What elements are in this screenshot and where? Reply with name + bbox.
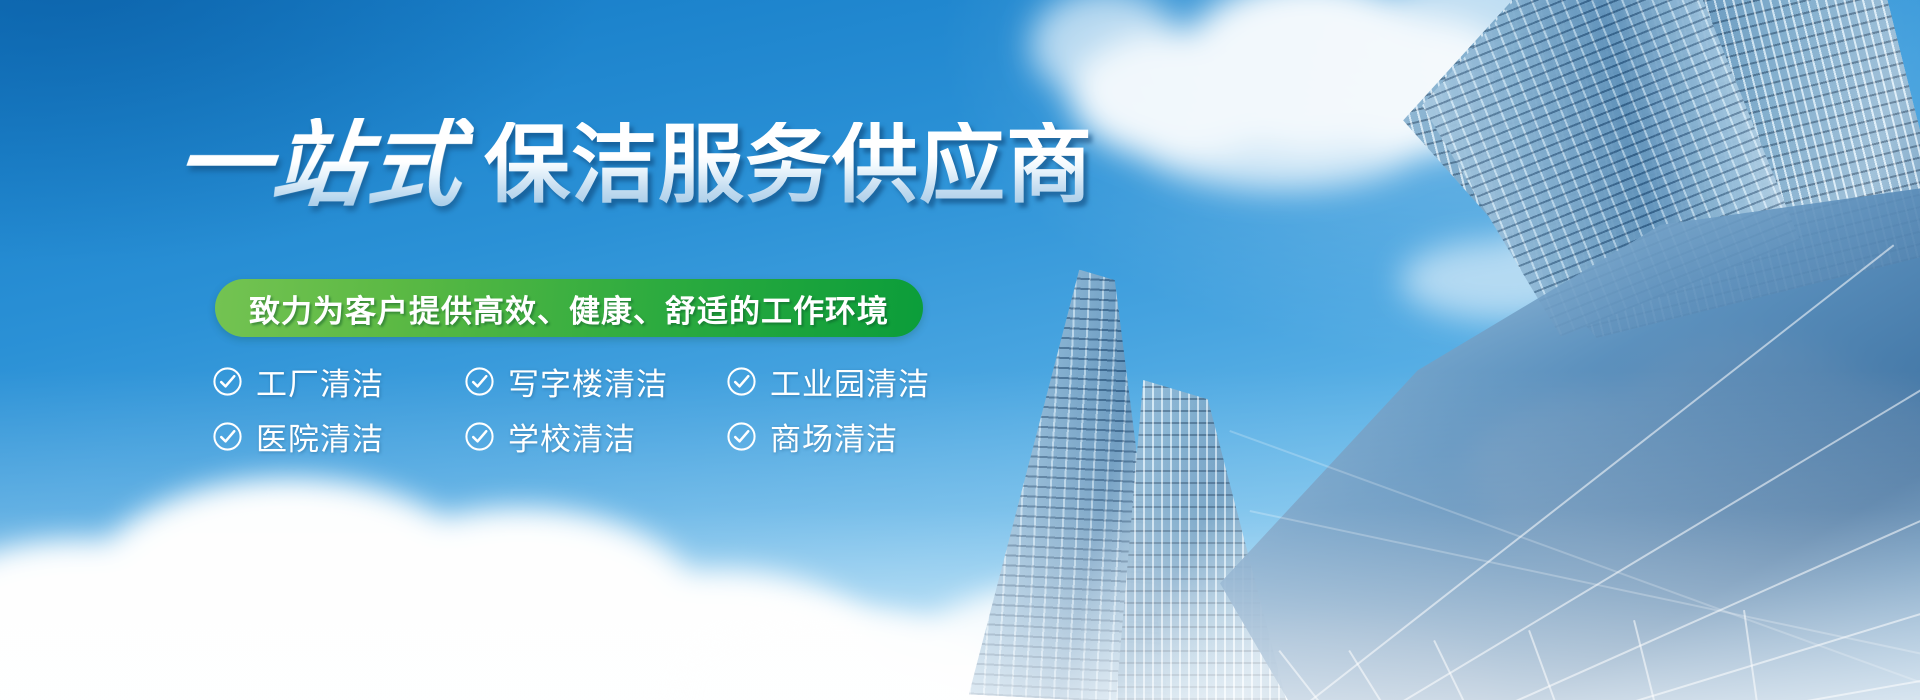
banner-content: 一站式 保洁服务供应商 致力为客户提供高效、健康、舒适的工作环境 工厂清洁 写字… [0, 0, 1920, 700]
feature-item[interactable]: 写字楼清洁 [464, 354, 726, 409]
check-circle-icon [726, 366, 757, 397]
check-circle-icon [726, 421, 757, 452]
check-circle-icon [212, 421, 243, 452]
hero-banner: 一站式 保洁服务供应商 致力为客户提供高效、健康、舒适的工作环境 工厂清洁 写字… [0, 0, 1920, 700]
tagline-text: 致力为客户提供高效、健康、舒适的工作环境 [249, 286, 889, 331]
headline-main-text: 保洁服务供应商 [484, 122, 1093, 208]
feature-label: 医院清洁 [256, 414, 384, 459]
feature-item[interactable]: 工厂清洁 [212, 354, 464, 409]
headline-brush-text: 一站式 [171, 118, 475, 212]
feature-label: 学校清洁 [508, 414, 636, 459]
headline: 一站式 保洁服务供应商 [176, 118, 1093, 212]
feature-label: 工厂清洁 [256, 359, 384, 404]
feature-item[interactable]: 工业园清洁 [726, 354, 930, 409]
feature-item[interactable]: 医院清洁 [212, 409, 464, 464]
feature-item[interactable]: 商场清洁 [726, 409, 930, 464]
feature-label: 工业园清洁 [770, 359, 930, 404]
tagline-pill: 致力为客户提供高效、健康、舒适的工作环境 [215, 279, 923, 337]
feature-label: 写字楼清洁 [508, 359, 668, 404]
feature-list: 工厂清洁 写字楼清洁 工业园清洁 [212, 354, 930, 464]
check-circle-icon [464, 421, 495, 452]
check-circle-icon [212, 366, 243, 397]
feature-label: 商场清洁 [770, 414, 898, 459]
feature-item[interactable]: 学校清洁 [464, 409, 726, 464]
check-circle-icon [464, 366, 495, 397]
